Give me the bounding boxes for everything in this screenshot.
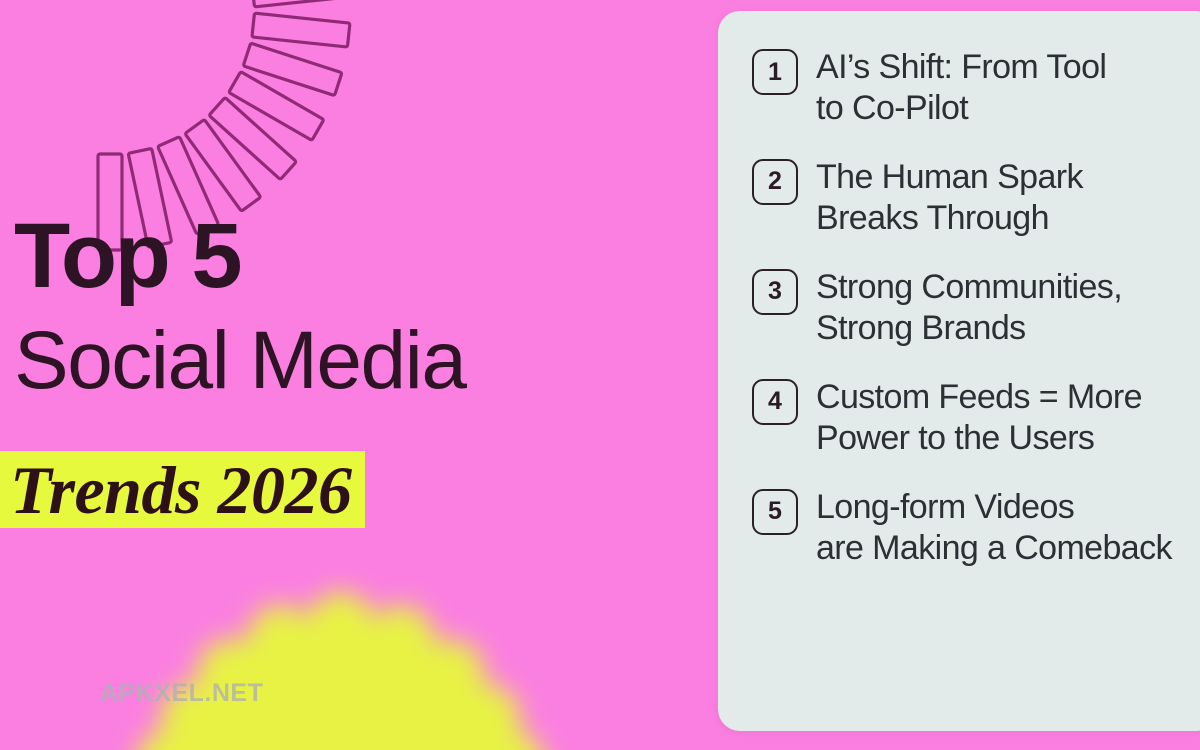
trend-label: Custom Feeds = More Power to the Users [816, 377, 1142, 460]
highlight-banner: Trends 2026 [0, 451, 365, 528]
highlight-text: Trends 2026 [10, 456, 351, 524]
list-item[interactable]: 1 AI’s Shift: From Tool to Co-Pilot [752, 47, 1200, 130]
poster-canvas: Top 5 Social Media Trends 2026 APKXEL.NE… [0, 0, 1200, 750]
trend-label: AI’s Shift: From Tool to Co-Pilot [816, 47, 1106, 130]
list-item[interactable]: 4 Custom Feeds = More Power to the Users [752, 377, 1200, 460]
trend-label: Long-form Videos are Making a Comeback [816, 487, 1172, 570]
headline-line-1: Top 5 [14, 214, 704, 299]
watermark: APKXEL.NET [100, 679, 263, 708]
trend-label: The Human Spark Breaks Through [816, 157, 1083, 240]
trends-panel: 1 AI’s Shift: From Tool to Co-Pilot 2 Th… [718, 11, 1200, 731]
trend-number-badge: 1 [752, 49, 798, 95]
list-item[interactable]: 3 Strong Communities, Strong Brands [752, 267, 1200, 350]
trend-number-badge: 4 [752, 379, 798, 425]
trend-number-badge: 5 [752, 489, 798, 535]
headline-block: Top 5 Social Media [14, 214, 704, 401]
headline-line-2: Social Media [14, 321, 704, 401]
list-item[interactable]: 5 Long-form Videos are Making a Comeback [752, 487, 1200, 570]
trend-label: Strong Communities, Strong Brands [816, 267, 1122, 350]
trend-number-badge: 3 [752, 269, 798, 315]
trend-number-badge: 2 [752, 159, 798, 205]
sunburst-icon [0, 550, 720, 750]
list-item[interactable]: 2 The Human Spark Breaks Through [752, 157, 1200, 240]
